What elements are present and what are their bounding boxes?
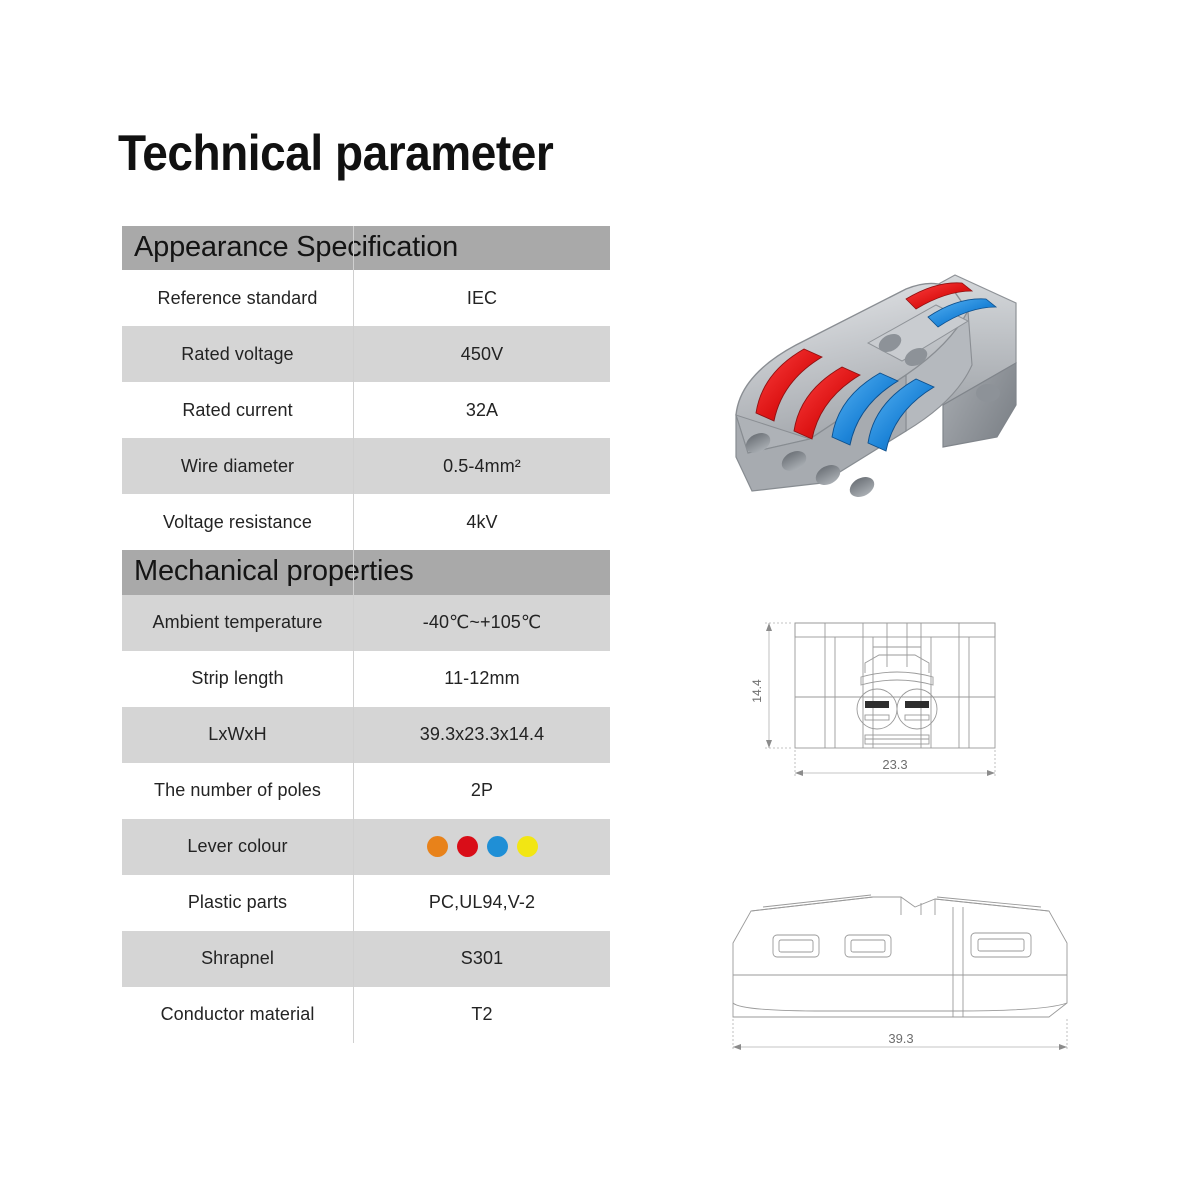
lever-colour-swatches — [354, 836, 610, 857]
table-row: Strip length11-12mm — [122, 651, 610, 707]
dimension-width-label: 23.3 — [882, 757, 907, 772]
row-label: Rated voltage — [122, 344, 353, 365]
dimension-height-label: 14.4 — [750, 679, 764, 703]
row-label: The number of poles — [122, 780, 353, 801]
row-value: 4kV — [354, 512, 610, 533]
colour-swatch-0 — [427, 836, 448, 857]
table-row: Lever colour — [122, 819, 610, 875]
colour-swatch-3 — [517, 836, 538, 857]
row-value: IEC — [354, 288, 610, 309]
drawing-front-view: 14.4 23.3 — [735, 605, 1085, 795]
table-row: Wire diameter0.5-4mm² — [122, 438, 610, 494]
product-photo — [700, 225, 1040, 525]
row-label: Conductor material — [122, 1004, 353, 1025]
row-label: Rated current — [122, 400, 353, 421]
colour-swatch-1 — [457, 836, 478, 857]
section-header-1: Mechanical properties — [122, 550, 610, 594]
row-value — [354, 836, 610, 857]
table-row: Plastic partsPC,UL94,V-2 — [122, 875, 610, 931]
row-label: Plastic parts — [122, 892, 353, 913]
row-label: Reference standard — [122, 288, 353, 309]
drawing-side-view: 39.3 — [705, 885, 1095, 1075]
section-header-0: Appearance Specification — [122, 226, 610, 270]
dimension-width-label: 39.3 — [888, 1031, 913, 1046]
colour-swatch-2 — [487, 836, 508, 857]
technical-parameter-table: Appearance SpecificationReference standa… — [122, 226, 610, 1043]
table-row: Rated current32A — [122, 382, 610, 438]
page-title: Technical parameter — [118, 124, 553, 182]
row-label: Voltage resistance — [122, 512, 353, 533]
row-label: Shrapnel — [122, 948, 353, 969]
row-label: LxWxH — [122, 724, 353, 745]
table-row: Ambient temperature-40℃~+105℃ — [122, 595, 610, 651]
row-value: 2P — [354, 780, 610, 801]
row-label: Ambient temperature — [122, 612, 353, 633]
row-value: 39.3x23.3x14.4 — [354, 724, 610, 745]
row-label: Lever colour — [122, 836, 353, 857]
row-value: 450V — [354, 344, 610, 365]
table-row: Voltage resistance4kV — [122, 494, 610, 550]
row-value: -40℃~+105℃ — [354, 612, 610, 633]
row-value: 11-12mm — [354, 668, 610, 689]
mount-hole — [976, 384, 1000, 402]
table-row: Reference standardIEC — [122, 270, 610, 326]
table-row: Conductor materialT2 — [122, 987, 610, 1043]
table-row: ShrapnelS301 — [122, 931, 610, 987]
row-value: S301 — [354, 948, 610, 969]
row-label: Strip length — [122, 668, 353, 689]
row-label: Wire diameter — [122, 456, 353, 477]
row-value: 32A — [354, 400, 610, 421]
connector-illustration — [700, 225, 1040, 525]
row-value: 0.5-4mm² — [354, 456, 610, 477]
table-row: The number of poles2P — [122, 763, 610, 819]
row-value: T2 — [354, 1004, 610, 1025]
row-value: PC,UL94,V-2 — [354, 892, 610, 913]
table-row: LxWxH39.3x23.3x14.4 — [122, 707, 610, 763]
table-row: Rated voltage450V — [122, 326, 610, 382]
